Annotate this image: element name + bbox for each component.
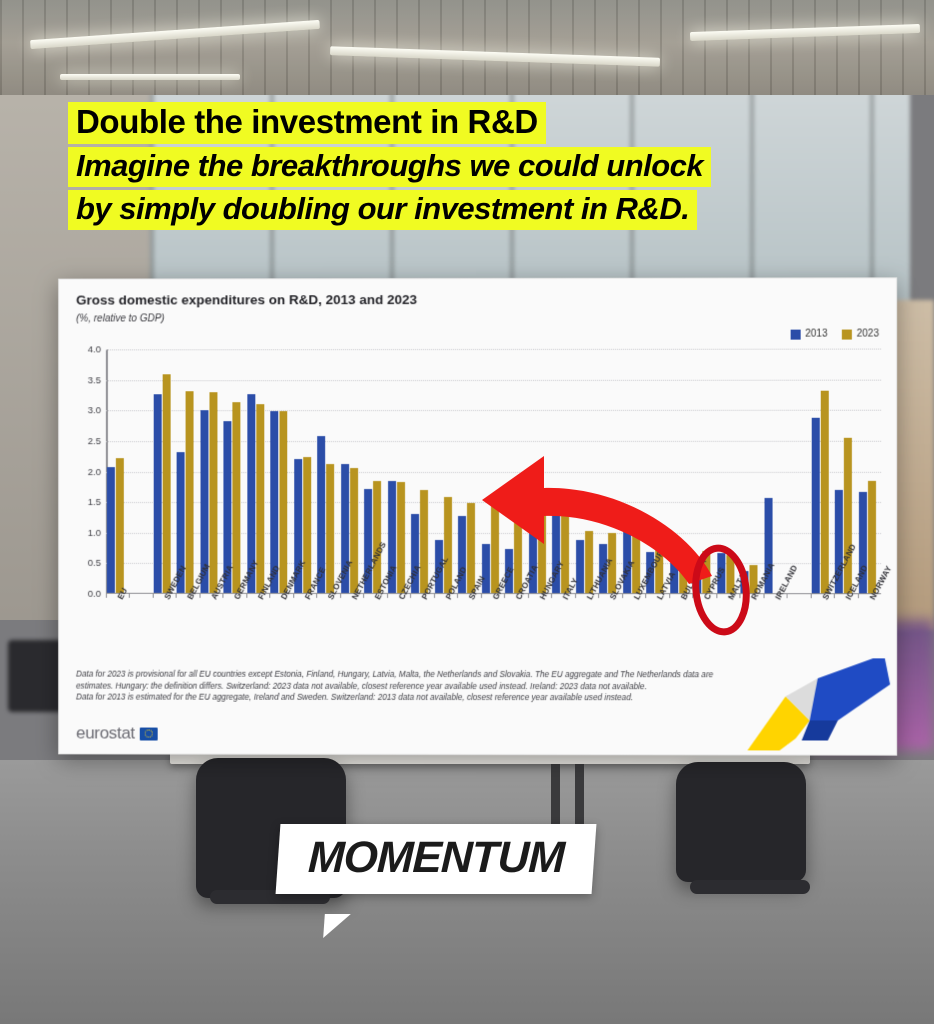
chart-legend: 2013 2023 [790,329,879,340]
ceiling-light [60,74,240,80]
headline-line-3: by simply doubling our investment in R&D… [68,190,697,230]
y-tick-label: 4.0 [88,344,101,355]
y-tick-label: 2.5 [88,436,101,447]
momentum-wordmark: MOMENTUM [307,833,565,883]
chart-subtitle: (%, relative to GDP) [76,313,165,324]
momentum-logo-badge: MOMENTUM [278,824,594,894]
footnote-3: Data for 2013 is estimated for the EU ag… [76,692,775,704]
legend-item-2013: 2013 [790,329,827,340]
bar-2023 [373,481,381,594]
headline-line-1: Double the investment in R&D [68,102,546,144]
eurostat-logo: eurostat [76,723,158,743]
eu-flag-icon [140,727,158,740]
bar-2023 [844,438,852,594]
bar-2023 [209,392,217,594]
chart-footnotes: Data for 2023 is provisional for all EU … [76,669,775,705]
bar-2023 [467,503,475,594]
y-tick-label: 0.0 [88,588,101,599]
eurostat-chart-card: Gross domestic expenditures on R&D, 2013… [58,277,897,755]
bg-chair-base [690,880,810,894]
chart-title: Gross domestic expenditures on R&D, 2013… [76,292,417,307]
bar-2013 [482,544,490,594]
bar-2013 [107,467,115,594]
y-tick-label: 2.0 [88,466,101,477]
bar-2023 [186,391,194,593]
bar-2023 [867,481,875,595]
headline-block: Double the investment in R&D Imagine the… [68,102,858,230]
bar-2023 [280,412,288,594]
bg-ceiling [0,0,934,95]
y-tick-label: 0.5 [88,558,101,569]
chart-plot-area: 0.00.51.01.52.02.53.03.54.0 [106,349,881,595]
bar-2023 [514,506,522,594]
eurostat-wordmark: eurostat [76,723,135,743]
bar-2023 [350,468,358,593]
bar-2023 [327,464,335,594]
bar-2023 [233,402,241,594]
y-tick-label: 3.5 [88,374,101,385]
footnote-2: estimates. Hungary: the definition diffe… [76,680,775,692]
bar-series-group [106,349,881,595]
bar-2013 [811,417,819,594]
bar-2013 [154,394,162,594]
legend-label-2023: 2023 [857,329,879,340]
momentum-box: MOMENTUM [276,824,597,894]
bar-2023 [303,457,311,593]
bar-2023 [538,508,546,594]
legend-item-2023: 2023 [842,329,879,340]
y-tick-label: 3.0 [88,405,101,416]
legend-swatch-2023 [842,329,852,339]
bar-2023 [420,490,428,594]
bar-2023 [444,497,452,594]
bg-office-chair [676,762,806,882]
y-tick-label: 1.5 [88,497,101,508]
headline-line-2: Imagine the breakthroughs we could unloc… [68,147,711,187]
bar-2023 [163,374,171,593]
bar-2023 [820,391,828,594]
bar-2023 [397,482,405,594]
legend-swatch-2013 [790,329,800,339]
bar-2023 [116,458,124,594]
footnote-1: Data for 2023 is provisional for all EU … [76,669,775,681]
y-tick-label: 1.0 [88,527,101,538]
legend-label-2013: 2013 [805,329,827,340]
momentum-speech-tail [323,914,351,938]
eurostat-chevron-graphic [739,658,890,750]
bar-2023 [491,502,499,594]
